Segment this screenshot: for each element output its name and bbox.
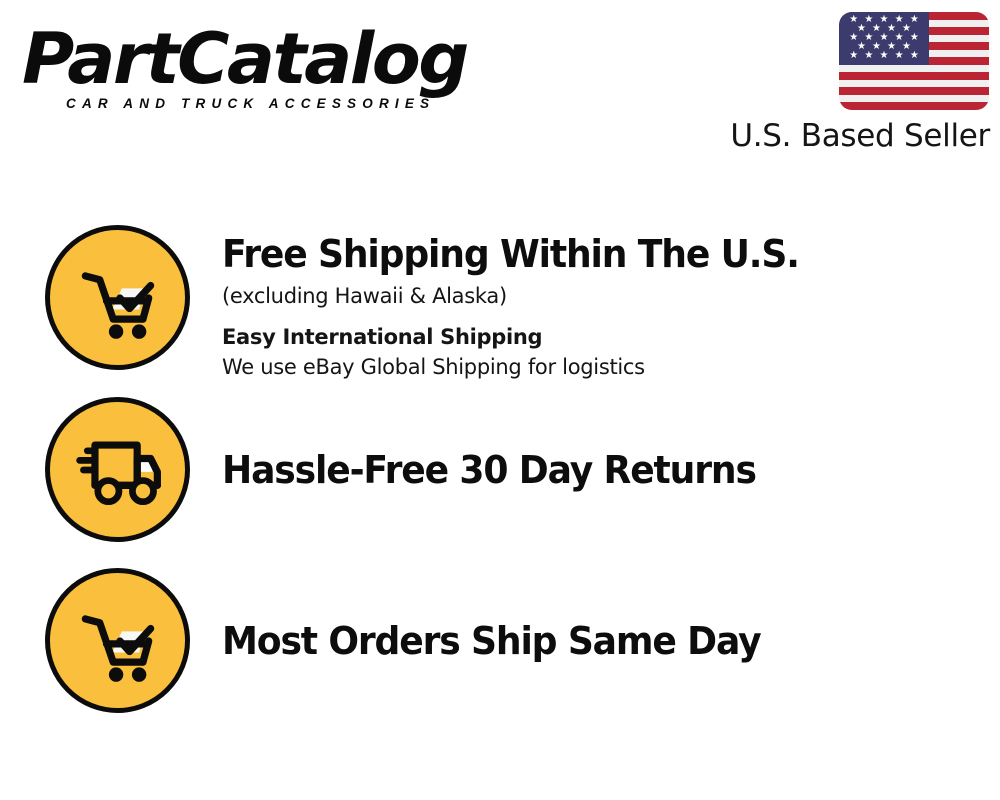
feature-text-block: Free Shipping Within The U.S. (excluding… — [222, 225, 1000, 381]
feature-subhead: Easy International Shipping — [222, 323, 1000, 351]
feature-title: Most Orders Ship Same Day — [222, 618, 760, 664]
page-header: PartCatalog CAR AND TRUCK ACCESSORIES ★★… — [0, 0, 1000, 175]
delivery-truck-icon — [45, 397, 190, 542]
us-flag-icon: ★★★★★ ★★★★ ★★★★★ ★★★★ ★★★★★ — [839, 12, 989, 110]
feature-row: Hassle-Free 30 Day Returns — [0, 397, 1000, 542]
feature-detail: We use eBay Global Shipping for logistic… — [222, 353, 1000, 381]
brand-tagline: CAR AND TRUCK ACCESSORIES — [66, 96, 435, 111]
shopping-cart-check-icon — [45, 568, 190, 713]
feature-note: (excluding Hawaii & Alaska) — [222, 282, 1000, 310]
brand-logo[interactable]: PartCatalog CAR AND TRUCK ACCESSORIES — [22, 22, 492, 117]
flag-canton: ★★★★★ ★★★★ ★★★★★ ★★★★ ★★★★★ — [839, 12, 929, 65]
feature-text-block: Hassle-Free 30 Day Returns — [222, 397, 1000, 542]
shopping-cart-check-icon — [45, 225, 190, 370]
feature-row: Free Shipping Within The U.S. (excluding… — [0, 225, 1000, 381]
us-based-seller-label: U.S. Based Seller — [718, 118, 990, 154]
feature-title: Free Shipping Within The U.S. — [222, 231, 961, 277]
feature-text-block: Most Orders Ship Same Day — [222, 568, 1000, 713]
brand-wordmark: PartCatalog — [22, 22, 467, 96]
feature-row: Most Orders Ship Same Day — [0, 568, 1000, 713]
feature-title: Hassle-Free 30 Day Returns — [222, 447, 756, 493]
